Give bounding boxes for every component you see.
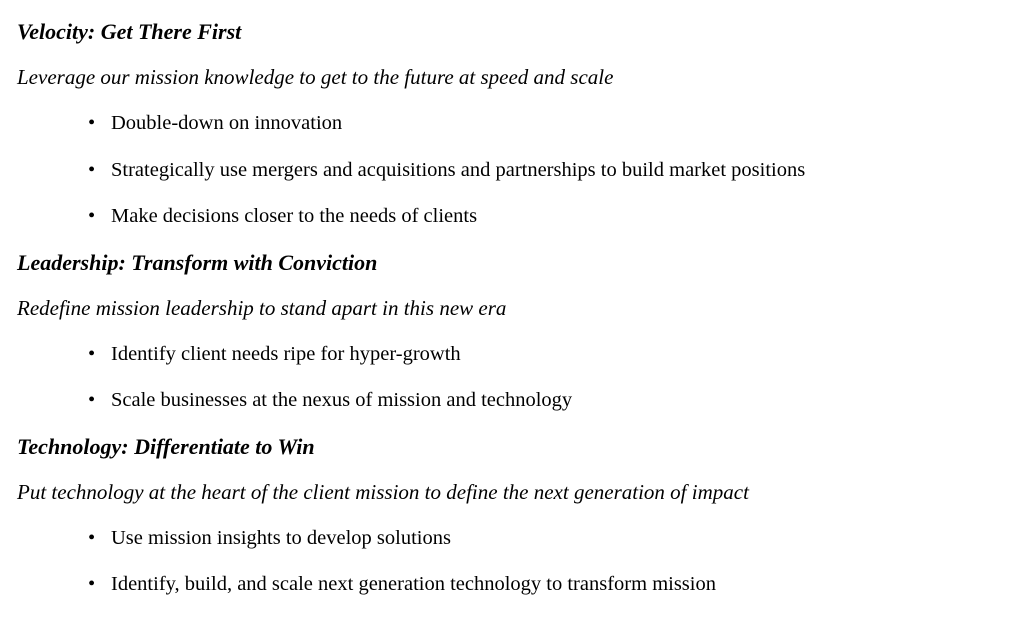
bullet-point-icon: •: [88, 160, 95, 181]
spacer: [0, 364, 1026, 390]
list-item: • Double-down on innovation: [0, 113, 1026, 134]
list-item-label: Strategically use mergers and acquisitio…: [111, 159, 805, 181]
list-item-label: Identify client needs ripe for hyper-gro…: [111, 343, 461, 365]
section-subtitle-leadership: Redefine mission leadership to stand apa…: [0, 298, 1026, 319]
list-item: • Strategically use mergers and acquisit…: [0, 160, 1026, 181]
spacer: [0, 43, 1026, 67]
section-leadership: Leadership: Transform with Conviction Re…: [0, 252, 1026, 411]
spacer: [0, 503, 1026, 528]
list-item: • Identify, build, and scale next genera…: [0, 574, 1026, 595]
list-item: • Make decisions closer to the needs of …: [0, 206, 1026, 227]
section-subtitle-technology: Put technology at the heart of the clien…: [0, 482, 1026, 503]
bullet-point-icon: •: [88, 344, 95, 365]
list-item-label: Use mission insights to develop solution…: [111, 527, 451, 549]
spacer: [0, 227, 1026, 252]
bullet-point-icon: •: [88, 390, 95, 411]
bullet-point-icon: •: [88, 113, 95, 134]
list-item-label: Scale businesses at the nexus of mission…: [111, 389, 572, 411]
slide-content: Velocity: Get There First Leverage our m…: [0, 0, 1026, 626]
section-subtitle-velocity: Leverage our mission knowledge to get to…: [0, 67, 1026, 88]
section-heading-technology: Technology: Differentiate to Win: [0, 436, 1026, 458]
spacer: [0, 411, 1026, 436]
spacer: [0, 134, 1026, 160]
bullet-point-icon: •: [88, 206, 95, 227]
bullet-point-icon: •: [88, 574, 95, 595]
list-item: • Use mission insights to develop soluti…: [0, 528, 1026, 549]
bullet-list-velocity: • Double-down on innovation • Strategica…: [0, 113, 1026, 227]
bullet-list-technology: • Use mission insights to develop soluti…: [0, 528, 1026, 595]
spacer: [0, 274, 1026, 298]
bullet-point-icon: •: [88, 528, 95, 549]
bullet-list-leadership: • Identify client needs ripe for hyper-g…: [0, 344, 1026, 411]
list-item: • Identify client needs ripe for hyper-g…: [0, 344, 1026, 365]
section-technology: Technology: Differentiate to Win Put tec…: [0, 436, 1026, 595]
spacer: [0, 319, 1026, 344]
list-item-label: Identify, build, and scale next generati…: [111, 573, 716, 595]
spacer: [0, 458, 1026, 482]
spacer: [0, 180, 1026, 206]
section-heading-leadership: Leadership: Transform with Conviction: [0, 252, 1026, 274]
spacer: [0, 548, 1026, 574]
spacer: [0, 88, 1026, 113]
top-spacer: [0, 0, 1026, 21]
list-item-label: Double-down on innovation: [111, 112, 342, 134]
list-item-label: Make decisions closer to the needs of cl…: [111, 205, 477, 227]
list-item: • Scale businesses at the nexus of missi…: [0, 390, 1026, 411]
section-velocity: Velocity: Get There First Leverage our m…: [0, 21, 1026, 227]
section-heading-velocity: Velocity: Get There First: [0, 21, 1026, 43]
